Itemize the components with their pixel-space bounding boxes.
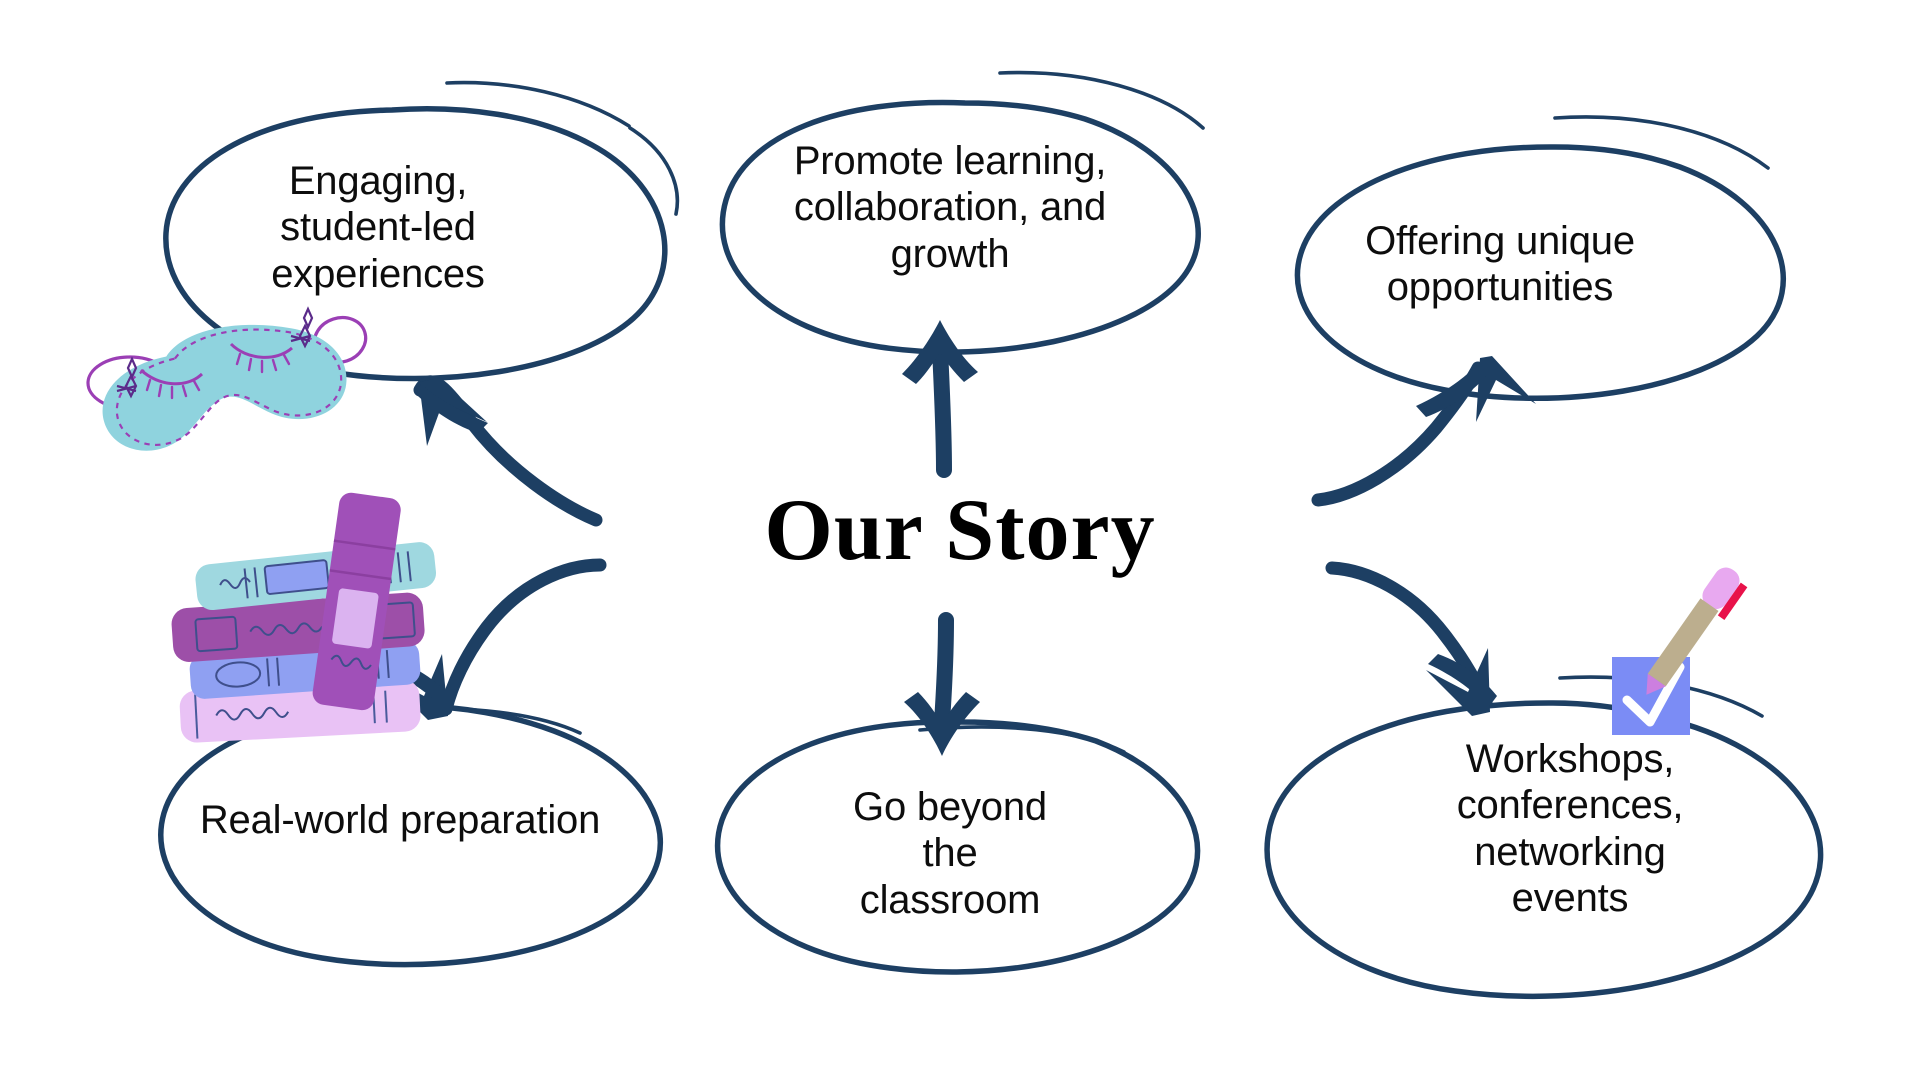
center-title-our-story: Our Story xyxy=(660,487,1260,575)
ellipse-offering[interactable] xyxy=(1297,117,1783,398)
book-stack-illustration xyxy=(171,491,438,743)
arrow-to-offering xyxy=(1318,356,1536,500)
ellipse-gobeyond[interactable] xyxy=(718,722,1198,972)
ellipse-realworld[interactable] xyxy=(161,706,661,965)
arrow-to-promote xyxy=(902,320,978,470)
arrow-to-gobeyond xyxy=(904,620,980,756)
our-story-diagram-canvas: .ink { fill: none; stroke: #1d3f63; stro… xyxy=(0,0,1920,1080)
ellipse-promote[interactable] xyxy=(722,73,1203,353)
arrow-to-engaging xyxy=(416,378,596,520)
ellipse-workshops[interactable] xyxy=(1267,677,1821,996)
arrow-to-workshops xyxy=(1332,568,1497,716)
sleep-mask-illustration xyxy=(88,309,372,451)
checkbox-and-pen-illustration xyxy=(1612,563,1751,735)
